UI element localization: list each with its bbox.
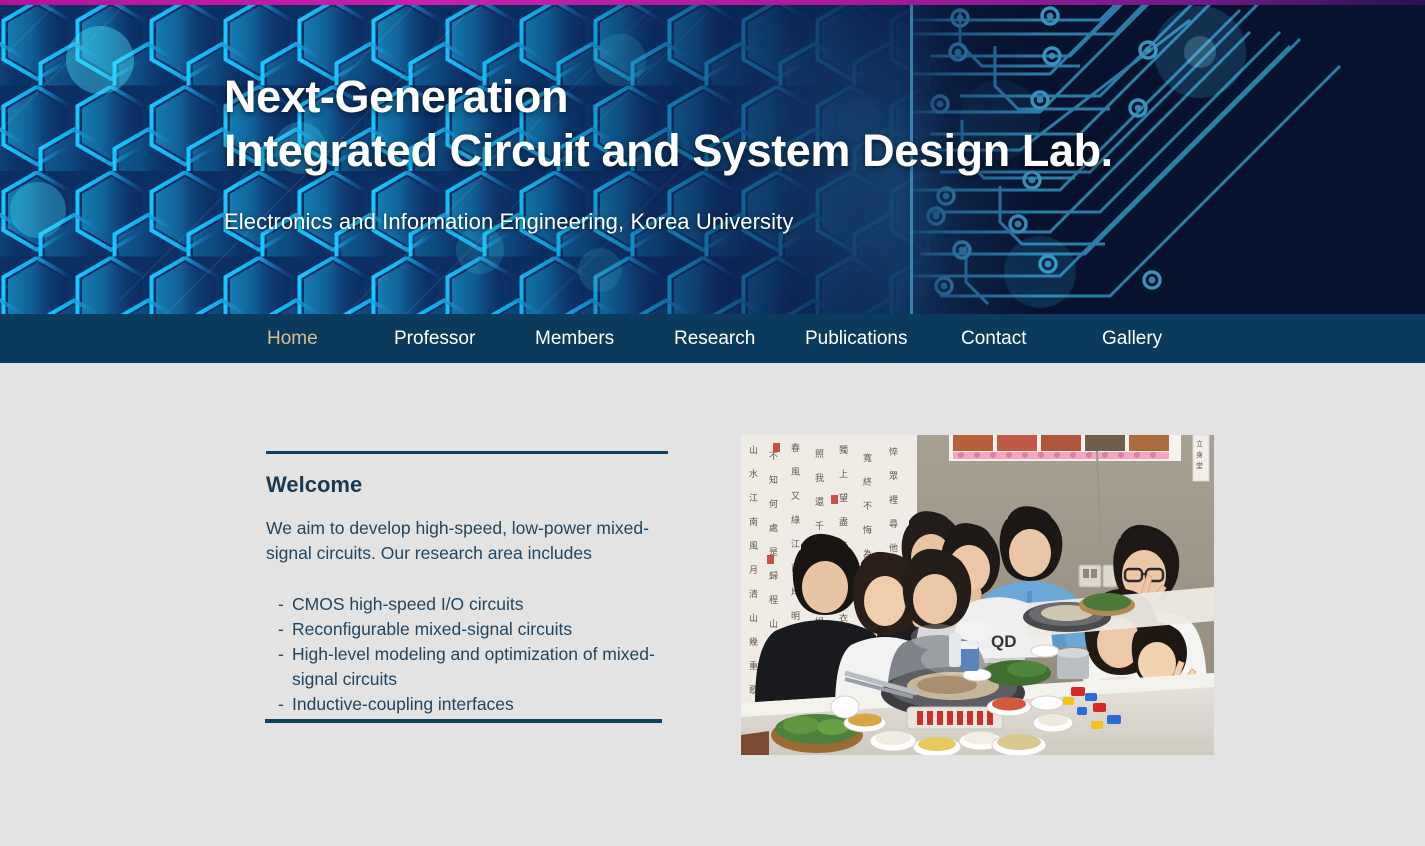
svg-text:照: 照 (815, 449, 824, 459)
main-navigation: HomeProfessorMembersResearchPublications… (0, 314, 1425, 363)
svg-text:月: 月 (749, 565, 758, 575)
nav-item-home[interactable]: Home (267, 314, 318, 363)
svg-text:我: 我 (815, 473, 824, 483)
svg-text:處: 處 (769, 522, 778, 533)
research-area-item: -CMOS high-speed I/O circuits (278, 592, 666, 617)
svg-text:南: 南 (749, 516, 758, 527)
svg-text:終: 終 (863, 476, 872, 487)
research-area-label: Reconfigurable mixed-signal circuits (292, 617, 666, 642)
svg-text:他: 他 (889, 542, 898, 553)
banner-text-block: Next-Generation Integrated Circuit and S… (224, 70, 1113, 236)
banner-title-line2: Integrated Circuit and System Design Lab… (224, 124, 1113, 178)
bullet-marker: - (278, 617, 292, 642)
banner-accent-stripe (0, 0, 1425, 5)
site-banner: Next-Generation Integrated Circuit and S… (0, 0, 1425, 314)
nav-item-gallery[interactable]: Gallery (1102, 314, 1162, 363)
nav-item-contact[interactable]: Contact (961, 314, 1026, 363)
svg-text:立: 立 (1196, 439, 1203, 448)
page-root: Next-Generation Integrated Circuit and S… (0, 0, 1425, 846)
svg-text:清: 清 (749, 588, 758, 599)
research-area-label: CMOS high-speed I/O circuits (292, 592, 666, 617)
welcome-paragraph: We aim to develop high-speed, low-power … (266, 516, 666, 566)
svg-text:悴: 悴 (889, 446, 898, 457)
svg-text:綠: 綠 (791, 514, 800, 525)
svg-text:衣: 衣 (839, 612, 848, 623)
svg-text:山: 山 (749, 613, 758, 623)
svg-text:程: 程 (769, 595, 778, 605)
svg-text:寬: 寬 (863, 452, 872, 463)
svg-text:山: 山 (769, 619, 778, 629)
svg-text:江: 江 (791, 539, 800, 549)
welcome-bottom-rule (265, 719, 662, 723)
research-area-item: -Inductive-coupling interfaces (278, 692, 666, 717)
bullet-marker: - (278, 692, 292, 717)
svg-text:盡: 盡 (839, 516, 848, 527)
svg-text:明: 明 (791, 611, 800, 621)
svg-text:又: 又 (791, 491, 800, 501)
svg-text:水: 水 (749, 468, 758, 479)
research-area-item: -Reconfigurable mixed-signal circuits (278, 617, 666, 642)
research-area-item: -High-level modeling and optimization of… (278, 642, 666, 692)
welcome-section: Welcome We aim to develop high-speed, lo… (266, 451, 666, 717)
research-area-list: -CMOS high-speed I/O circuits-Reconfigur… (278, 592, 666, 717)
bullet-marker: - (278, 642, 292, 692)
banner-subtitle: Electronics and Information Engineering,… (224, 208, 1113, 236)
welcome-heading: Welcome (266, 472, 666, 498)
group-photo-image: 山水江 南風月 清山幾 重歌 不知何 處是歸 程山色 有 春風又 綠江南 (741, 435, 1214, 755)
svg-text:上: 上 (839, 469, 848, 479)
svg-text:還: 還 (815, 496, 824, 507)
svg-text:身: 身 (1196, 450, 1203, 459)
navigation-list: HomeProfessorMembersResearchPublications… (0, 314, 1425, 363)
svg-text:悔: 悔 (863, 524, 872, 535)
svg-text:山: 山 (749, 445, 758, 455)
svg-text:堂: 堂 (1196, 461, 1203, 470)
svg-text:千: 千 (815, 521, 824, 531)
svg-text:不: 不 (863, 501, 872, 511)
group-photo: 山水江 南風月 清山幾 重歌 不知何 處是歸 程山色 有 春風又 綠江南 (741, 435, 1214, 755)
svg-text:江: 江 (749, 493, 758, 503)
svg-text:望: 望 (839, 492, 848, 503)
welcome-top-rule (266, 451, 668, 454)
svg-text:歸: 歸 (769, 570, 778, 581)
research-area-label: Inductive-coupling interfaces (292, 692, 666, 717)
svg-text:獨: 獨 (839, 445, 848, 455)
bullet-marker: - (278, 592, 292, 617)
nav-item-publications[interactable]: Publications (805, 314, 907, 363)
svg-text:知: 知 (769, 474, 778, 485)
svg-text:風: 風 (749, 541, 758, 551)
svg-text:幾: 幾 (749, 636, 758, 647)
svg-text:春: 春 (791, 442, 800, 453)
svg-text:QD: QD (991, 632, 1017, 651)
nav-item-members[interactable]: Members (535, 314, 614, 363)
research-area-label: High-level modeling and optimization of … (292, 642, 666, 692)
svg-text:裡: 裡 (889, 494, 898, 505)
svg-text:不: 不 (769, 451, 778, 461)
svg-text:尋: 尋 (889, 519, 898, 529)
svg-text:重: 重 (749, 660, 758, 671)
svg-text:風: 風 (791, 467, 800, 477)
banner-title-line1: Next-Generation (224, 70, 1113, 124)
svg-text:何: 何 (769, 498, 778, 509)
nav-item-research[interactable]: Research (674, 314, 755, 363)
svg-text:眾: 眾 (889, 471, 898, 481)
nav-item-professor[interactable]: Professor (394, 314, 475, 363)
main-content: Welcome We aim to develop high-speed, lo… (0, 363, 1425, 846)
